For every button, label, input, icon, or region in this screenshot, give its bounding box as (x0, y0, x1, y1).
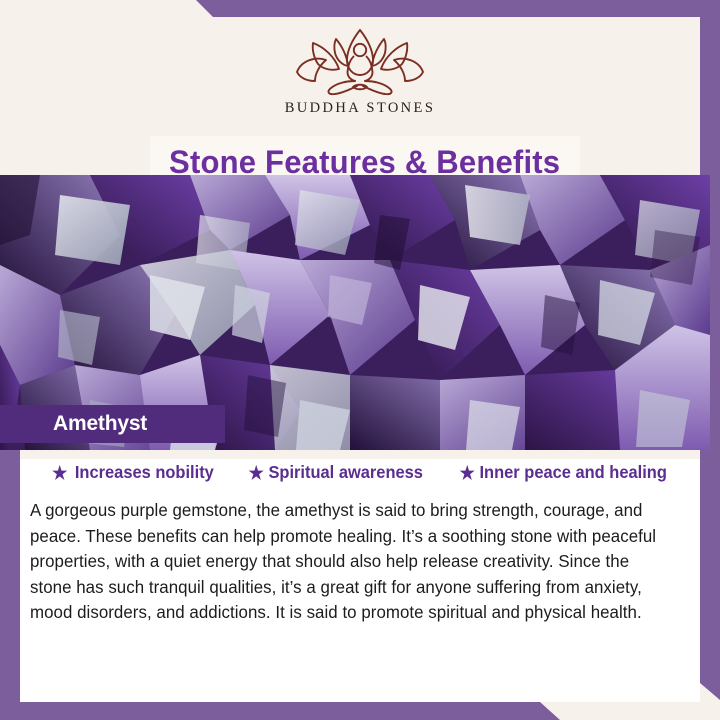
benefit-label: Spiritual awareness (268, 462, 423, 483)
brand-name: BUDDHA STONES (285, 100, 436, 117)
content-panel: ★ Increases nobility ★ Spiritual awarene… (20, 450, 700, 702)
star-icon: ★ (52, 464, 67, 482)
star-icon: ★ (459, 464, 474, 482)
benefit-item-increases-nobility: ★ Increases nobility (52, 462, 214, 483)
stone-name-tag: Amethyst (0, 405, 225, 443)
benefit-item-spiritual-awareness: ★ Spiritual awareness (249, 462, 423, 483)
benefit-label: Increases nobility (75, 462, 214, 483)
benefit-label: Inner peace and healing (479, 462, 666, 483)
star-icon: ★ (249, 464, 264, 482)
stone-description: A gorgeous purple gemstone, the amethyst… (30, 498, 674, 626)
benefit-item-inner-peace-and-healing: ★ Inner peace and healing (459, 462, 666, 483)
stone-features-poster: BUDDHA STONES Stone Features & Benefits (0, 0, 720, 720)
left-purple-band (0, 449, 20, 720)
top-purple-band (0, 0, 720, 17)
benefits-row: ★ Increases nobility ★ Spiritual awarene… (20, 462, 700, 483)
brand-logo: BUDDHA STONES (20, 25, 700, 117)
bottom-purple-band (0, 702, 560, 720)
content-top-strip (20, 450, 700, 459)
lotus-meditation-icon (285, 25, 435, 97)
header: BUDDHA STONES Stone Features & Benefits (20, 17, 700, 175)
stone-name-label: Amethyst (53, 412, 147, 436)
